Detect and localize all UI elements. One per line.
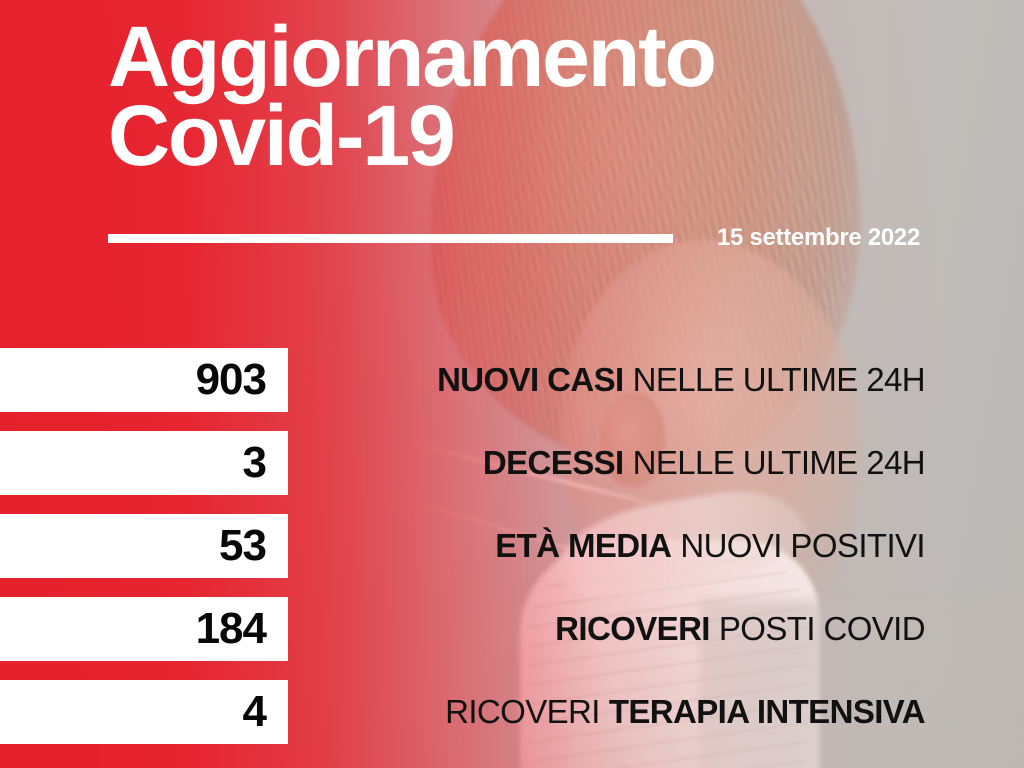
stat-value-bar: 4	[0, 680, 288, 744]
stat-value-bar: 184	[0, 597, 288, 661]
stat-value: 53	[219, 524, 266, 568]
stat-value: 184	[196, 607, 266, 651]
stat-label-strong: TERAPIA INTENSIVA	[609, 693, 925, 731]
stat-label-light: NELLE ULTIME 24H	[633, 444, 925, 482]
page-title: Aggiornamento Covid-19	[108, 18, 948, 176]
stat-label-light: NELLE ULTIME 24H	[633, 361, 925, 399]
stat-value: 903	[196, 358, 266, 402]
stat-value-bar: 3	[0, 431, 288, 495]
title-divider	[108, 234, 673, 243]
stat-row: 903NUOVI CASINELLE ULTIME 24H	[0, 348, 1024, 412]
stat-label: RICOVERIPOSTI COVID	[555, 597, 925, 661]
stat-label-strong: ETÀ MEDIA	[495, 527, 671, 565]
statistics-list: 903NUOVI CASINELLE ULTIME 24H3DECESSINEL…	[0, 348, 1024, 744]
covid-update-poster: Aggiornamento Covid-19 15 settembre 2022…	[0, 0, 1024, 768]
title-rule-row: 15 settembre 2022	[108, 224, 920, 252]
stat-row: 3DECESSINELLE ULTIME 24H	[0, 431, 1024, 495]
stat-label-strong: RICOVERI	[555, 610, 710, 648]
stat-label-strong: DECESSI	[483, 444, 624, 482]
stat-label-light: RICOVERI	[445, 693, 600, 731]
stat-value-bar: 53	[0, 514, 288, 578]
stat-row: 4RICOVERITERAPIA INTENSIVA	[0, 680, 1024, 744]
stat-value: 3	[243, 441, 266, 485]
header: Aggiornamento Covid-19 15 settembre 2022	[108, 18, 948, 176]
report-date: 15 settembre 2022	[717, 224, 920, 252]
stat-row: 53ETÀ MEDIANUOVI POSITIVI	[0, 514, 1024, 578]
stat-row: 184RICOVERIPOSTI COVID	[0, 597, 1024, 661]
stat-value-bar: 903	[0, 348, 288, 412]
stat-value: 4	[243, 690, 266, 734]
stat-label: NUOVI CASINELLE ULTIME 24H	[437, 348, 925, 412]
stat-label-light: POSTI COVID	[719, 610, 925, 648]
stat-label-light: NUOVI POSITIVI	[680, 527, 925, 565]
stat-label: RICOVERITERAPIA INTENSIVA	[445, 680, 925, 744]
stat-label: DECESSINELLE ULTIME 24H	[483, 431, 925, 495]
stat-label-strong: NUOVI CASI	[437, 361, 624, 399]
stat-label: ETÀ MEDIANUOVI POSITIVI	[495, 514, 925, 578]
